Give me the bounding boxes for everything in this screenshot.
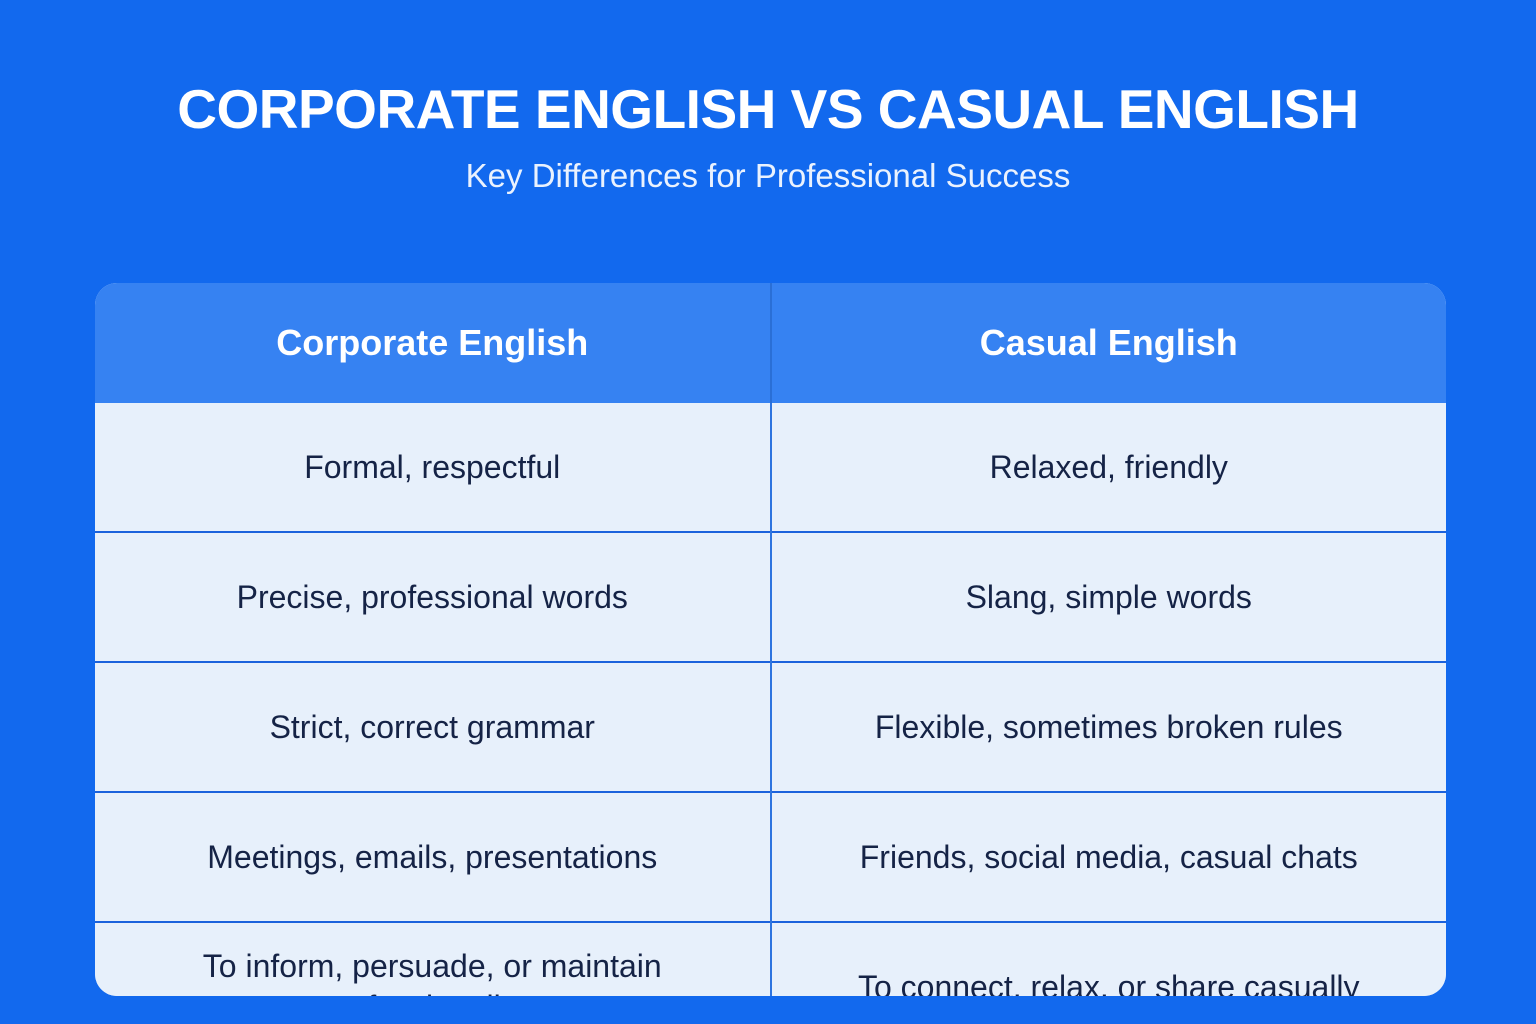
page-title: CORPORATE ENGLISH VS CASUAL ENGLISH (0, 78, 1536, 140)
table-header: Corporate English Casual English (95, 283, 1446, 403)
column-header-casual-english: Casual English (771, 283, 1447, 403)
cell-corporate-grammar: Strict, correct grammar (95, 662, 771, 792)
cell-text: Flexible, sometimes broken rules (786, 707, 1433, 748)
cell-casual-purpose: To connect, relax, or share casually (771, 922, 1447, 996)
cell-text: Friends, social media, casual chats (786, 837, 1433, 878)
table-row: Meetings, emails, presentations Friends,… (95, 792, 1446, 922)
cell-corporate-context: Meetings, emails, presentations (95, 792, 771, 922)
cell-text: Formal, respectful (109, 447, 756, 488)
table-body: Formal, respectful Relaxed, friendly Pre… (95, 403, 1446, 996)
cell-casual-context: Friends, social media, casual chats (771, 792, 1447, 922)
cell-text: To connect, relax, or share casually (786, 967, 1433, 997)
comparison-table-container: Corporate English Casual English Formal,… (95, 283, 1446, 996)
cell-casual-vocabulary: Slang, simple words (771, 532, 1447, 662)
table-header-row: Corporate English Casual English (95, 283, 1446, 403)
comparison-table: Corporate English Casual English Formal,… (95, 283, 1446, 996)
table-row: Strict, correct grammar Flexible, someti… (95, 662, 1446, 792)
cell-corporate-purpose: To inform, persuade, or maintain profess… (95, 922, 771, 996)
cell-casual-grammar: Flexible, sometimes broken rules (771, 662, 1447, 792)
page-subtitle: Key Differences for Professional Success (0, 156, 1536, 196)
cell-casual-tone: Relaxed, friendly (771, 403, 1447, 532)
cell-text: Strict, correct grammar (109, 707, 756, 748)
cell-text: Precise, professional words (109, 577, 756, 618)
cell-corporate-vocabulary: Precise, professional words (95, 532, 771, 662)
header-block: CORPORATE ENGLISH VS CASUAL ENGLISH Key … (0, 78, 1536, 196)
table-row: To inform, persuade, or maintain profess… (95, 922, 1446, 996)
table-row: Precise, professional words Slang, simpl… (95, 532, 1446, 662)
cell-text: Relaxed, friendly (786, 447, 1433, 488)
cell-corporate-tone: Formal, respectful (95, 403, 771, 532)
infographic-canvas: CORPORATE ENGLISH VS CASUAL ENGLISH Key … (0, 0, 1536, 1024)
cell-text: Meetings, emails, presentations (109, 837, 756, 878)
column-header-corporate-english: Corporate English (95, 283, 771, 403)
cell-text: To inform, persuade, or maintain profess… (109, 946, 756, 996)
cell-text: Slang, simple words (786, 577, 1433, 618)
table-row: Formal, respectful Relaxed, friendly (95, 403, 1446, 532)
